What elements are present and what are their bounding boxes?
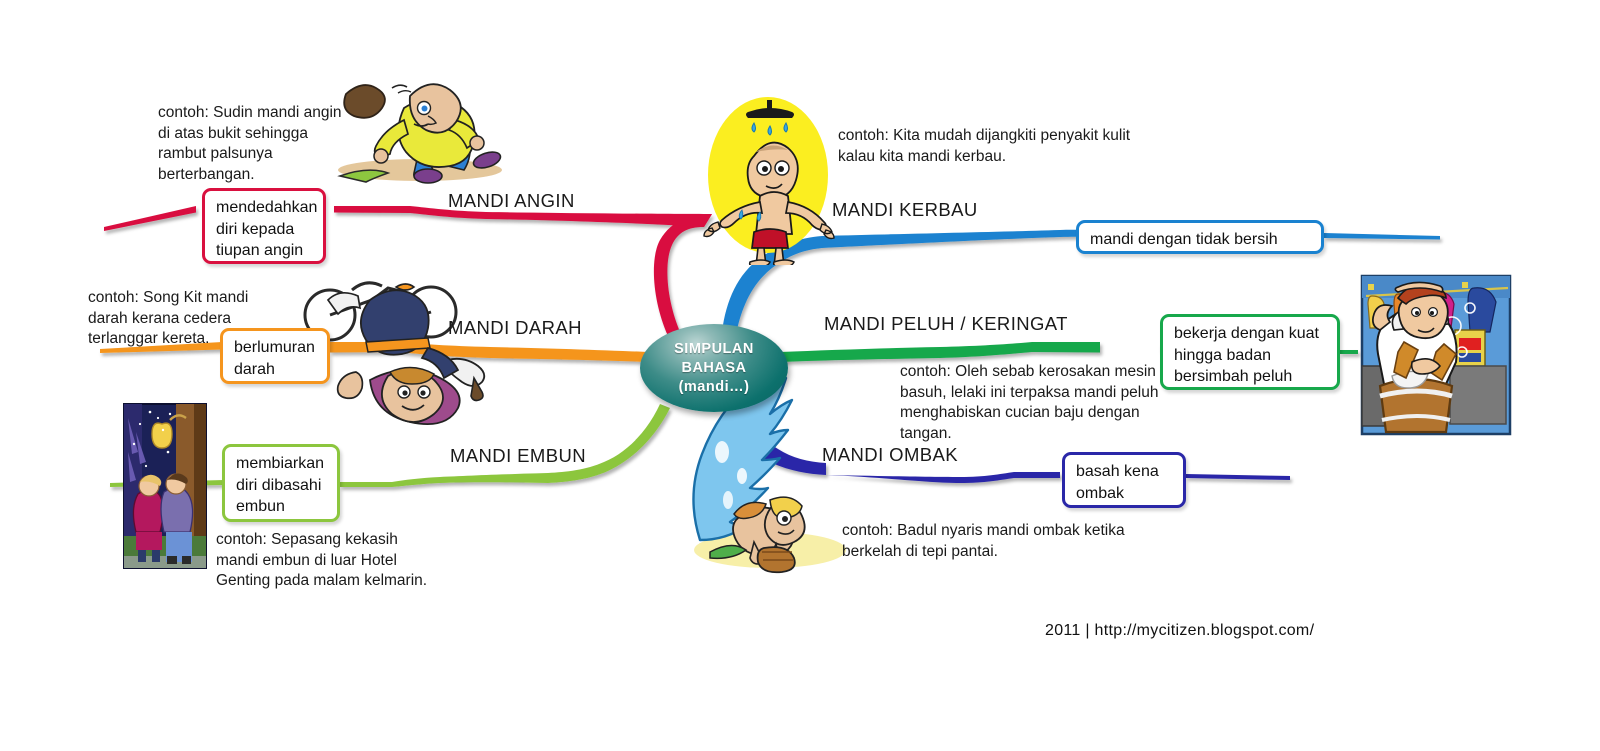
meaning-box-mandi-angin[interactable]: mendedahkan diri kepada tiupan angin [202, 188, 326, 264]
branch-label-mandi-darah[interactable]: MANDI DARAH [448, 317, 582, 339]
branch-label-mandi-kerbau[interactable]: MANDI KERBAU [832, 199, 978, 221]
man-washing-clothes-icon [1362, 276, 1510, 434]
example-text-mandi-embun: contoh: Sepasang kekasih mandi embun di … [216, 530, 436, 592]
example-text-mandi-kerbau: contoh: Kita mudah dijangkiti penyakit k… [838, 126, 1152, 167]
mindmap-canvas: SIMPULAN BAHASA (mandi…) MANDI ANGIN MAN… [0, 0, 1600, 751]
man-showering-icon [700, 90, 840, 265]
center-node-line2: BAHASA [681, 359, 746, 378]
couple-at-night-icon [124, 404, 206, 568]
example-text-mandi-ombak: contoh: Badul nyaris mandi ombak ketika … [842, 521, 1142, 562]
example-text-mandi-angin: contoh: Sudin mandi angin di atas bukit … [158, 103, 354, 185]
branch-label-mandi-ombak[interactable]: MANDI OMBAK [822, 444, 958, 466]
center-node-line1: SIMPULAN [674, 340, 754, 359]
running-man-toupee-icon [338, 84, 502, 183]
meaning-box-mandi-kerbau[interactable]: mandi dengan tidak bersih [1076, 220, 1324, 254]
branch-label-mandi-angin[interactable]: MANDI ANGIN [448, 190, 575, 212]
center-node[interactable]: SIMPULAN BAHASA (mandi…) [640, 324, 788, 412]
branch-label-mandi-embun[interactable]: MANDI EMBUN [450, 445, 586, 467]
meaning-box-mandi-embun[interactable]: membiarkan diri dibasahi embun [222, 444, 340, 522]
branch-label-mandi-peluh[interactable]: MANDI PELUH / KERINGAT [824, 313, 1068, 335]
example-text-mandi-peluh: contoh: Oleh sebab kerosakan mesin basuh… [900, 362, 1176, 444]
credit-line: 2011 | http://mycitizen.blogspot.com/ [1045, 622, 1314, 640]
center-node-line3: (mandi…) [679, 378, 750, 397]
example-text-mandi-darah: contoh: Song Kit mandi darah kerana cede… [88, 288, 268, 350]
meaning-box-mandi-peluh[interactable]: bekerja dengan kuat hingga badan bersimb… [1160, 314, 1340, 390]
meaning-box-mandi-ombak[interactable]: basah kena ombak [1062, 452, 1186, 508]
